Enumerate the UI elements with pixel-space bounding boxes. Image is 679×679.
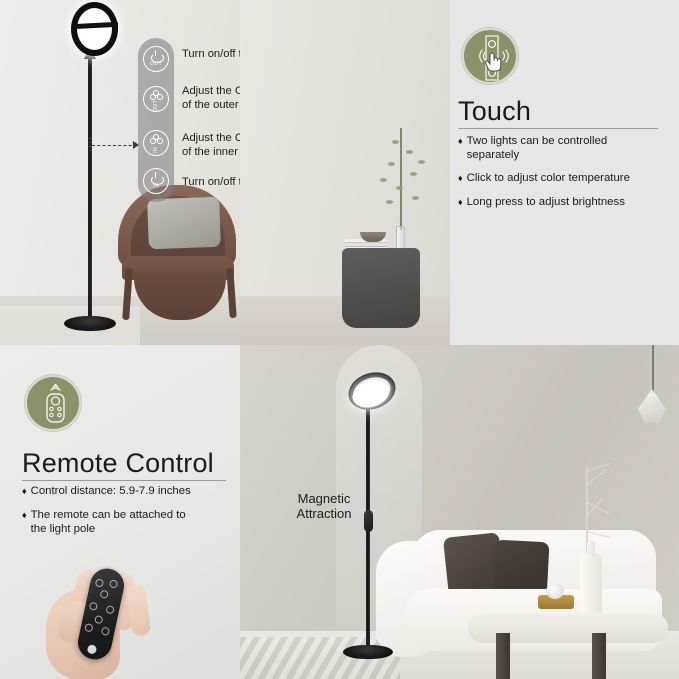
pendant-lamp-cord: [652, 345, 654, 393]
button-brightness-out-label: OUT: [153, 100, 159, 112]
touch-title-rule: [458, 128, 658, 129]
room-lamp-base: [343, 645, 393, 659]
hand-touch-panel-icon: [462, 28, 518, 84]
armchair-pillow: [147, 197, 221, 249]
floor-vase: [580, 553, 602, 619]
finger: [125, 583, 151, 637]
remote-title: Remote Control: [22, 448, 226, 478]
diamond-bullet-icon: ♦: [22, 508, 27, 523]
callout-text-power-out: Turn on/off the outer light: [182, 48, 240, 62]
power-icon: [151, 173, 162, 182]
remote-title-rule: [22, 480, 226, 481]
coffee-table-leg: [592, 633, 606, 679]
touch-bullet-list: ♦ Two lights can be controlled separatel…: [458, 134, 668, 210]
remote-badge: [25, 375, 81, 431]
table-decor-ball: [546, 583, 564, 599]
list-item: ♦ Click to adjust color temperature: [458, 171, 668, 186]
diamond-bullet-icon: ♦: [458, 171, 463, 186]
list-item: ♦ The remote can be attached to the ligh…: [22, 508, 234, 536]
button-brightness-in: IN: [143, 130, 169, 156]
button-brightness-out: OUT: [143, 86, 169, 112]
brightness-icon: [150, 134, 163, 145]
power-icon: [151, 51, 162, 60]
touch-bullet-1: Two lights can be controlled separately: [467, 134, 608, 162]
diamond-bullet-icon: ♦: [458, 134, 463, 149]
touch-bullet-3: Long press to adjust brightness: [467, 195, 625, 209]
callout-text-brightness-in: Adjust the CCT and Brightness of the inn…: [182, 132, 240, 159]
button-power-in: IN: [143, 168, 169, 194]
list-item: ♦ Long press to adjust brightness: [458, 195, 668, 210]
touch-badge: [462, 28, 518, 84]
diamond-bullet-icon: ♦: [22, 484, 27, 499]
callout-text-brightness-out: Adjust the CCT and Brightness of the out…: [182, 85, 240, 112]
dried-branch: [586, 467, 588, 553]
remote-led: [87, 644, 98, 655]
magnetic-attraction-label: Magnetic Attraction: [278, 491, 370, 521]
list-item: ♦ Control distance: 5.9-7.9 inches: [22, 484, 234, 499]
plant-branch: [400, 128, 402, 230]
photo-side-table-area: [240, 0, 450, 345]
lamp-control-buttons: [89, 138, 92, 154]
remote-bullet-list: ♦ Control distance: 5.9-7.9 inches ♦ The…: [22, 484, 234, 536]
remote-control-icon: [25, 375, 81, 431]
infographic-page: OUT OUT IN IN Turn on/off the outer ligh…: [0, 0, 679, 679]
remote-bullet-2: The remote can be attached to the light …: [31, 508, 186, 536]
coffee-table-leg: [496, 633, 510, 679]
touch-bullet-2: Click to adjust color temperature: [467, 171, 630, 185]
callout-text-power-in: Turn on/off the inner light: [182, 176, 240, 190]
lamp-pole: [88, 50, 92, 323]
brightness-icon: [150, 90, 163, 101]
panel-control-callouts: OUT OUT IN IN Turn on/off the outer ligh…: [0, 0, 240, 345]
lamp-base: [64, 316, 116, 331]
side-table: [342, 248, 420, 328]
diamond-bullet-icon: ♦: [458, 195, 463, 210]
lamp-ring-head: [71, 2, 118, 56]
callout-leader-line: [92, 145, 137, 146]
remote-bullet-1: Control distance: 5.9-7.9 inches: [31, 484, 191, 498]
touch-title: Touch: [458, 96, 658, 126]
panel-touch: Touch ♦ Two lights can be controlled sep…: [240, 0, 679, 345]
list-item: ♦ Two lights can be controlled separatel…: [458, 134, 668, 162]
panel-magnetic-attraction: Magnetic Attraction: [240, 345, 679, 679]
button-brightness-in-label: IN: [153, 147, 159, 153]
button-power-out: OUT: [143, 46, 169, 72]
control-panel-overlay: OUT OUT IN IN: [138, 38, 174, 202]
